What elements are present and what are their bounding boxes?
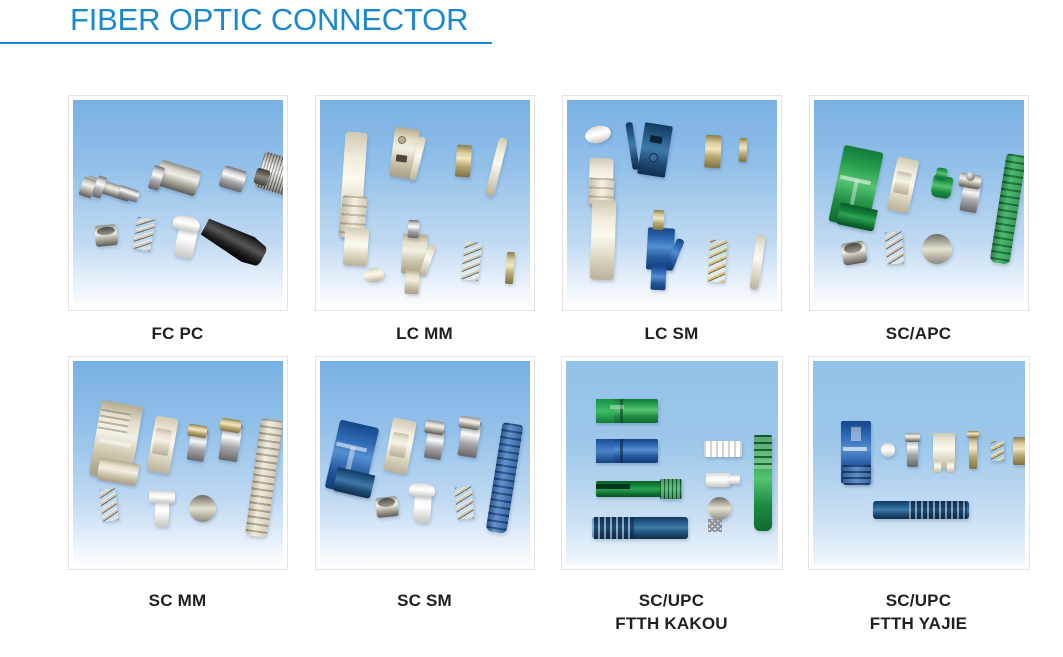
product-caption-fc-pc: FC PC [152, 323, 204, 346]
product-cell-sc-mm[interactable]: SC MM [60, 356, 295, 636]
product-cell-sc-upc-ftth-yajie[interactable]: SC/UPC FTTH YAJIE [801, 356, 1036, 636]
product-card-sc-upc-ftth-yajie[interactable] [808, 356, 1030, 570]
product-caption-sc-upc-ftth-kakou: SC/UPC FTTH KAKOU [615, 590, 727, 636]
product-caption-sc-apc: SC/APC [886, 323, 951, 346]
product-card-sc-sm[interactable] [315, 356, 535, 570]
page-header: FIBER OPTIC CONNECTOR [0, 0, 1063, 46]
product-grid: FC PC [0, 52, 1063, 636]
product-caption-lc-sm: LC SM [645, 323, 699, 346]
product-card-lc-sm[interactable] [562, 95, 782, 311]
product-cell-lc-sm[interactable]: LC SM [554, 95, 789, 346]
product-photo-lc-mm [320, 100, 530, 306]
product-photo-sc-mm [73, 361, 283, 565]
product-card-fc-pc[interactable] [68, 95, 288, 311]
product-caption-lc-mm: LC MM [396, 323, 453, 346]
product-cell-sc-sm[interactable]: SC SM [307, 356, 542, 636]
product-caption-sc-upc-ftth-yajie: SC/UPC FTTH YAJIE [870, 590, 967, 636]
product-card-sc-apc[interactable] [809, 95, 1029, 311]
page-title: FIBER OPTIC CONNECTOR [70, 2, 468, 38]
title-underline-rule [0, 42, 492, 44]
product-row-2: SC MM [0, 346, 1063, 636]
product-photo-lc-sm [567, 100, 777, 306]
product-photo-sc-apc [814, 100, 1024, 306]
product-cell-lc-mm[interactable]: LC MM [307, 95, 542, 346]
product-photo-sc-sm [320, 361, 530, 565]
product-card-sc-upc-ftth-kakou[interactable] [561, 356, 783, 570]
product-photo-sc-upc-ftth-kakou [566, 361, 778, 565]
product-cell-sc-upc-ftth-kakou[interactable]: SC/UPC FTTH KAKOU [554, 356, 789, 636]
product-caption-sc-sm: SC SM [397, 590, 452, 613]
product-cell-fc-pc[interactable]: FC PC [60, 95, 295, 346]
product-photo-fc-pc [73, 100, 283, 306]
product-row-1: FC PC [0, 52, 1063, 346]
product-card-sc-mm[interactable] [68, 356, 288, 570]
product-photo-sc-upc-ftth-yajie [813, 361, 1025, 565]
product-caption-sc-mm: SC MM [149, 590, 207, 613]
product-card-lc-mm[interactable] [315, 95, 535, 311]
product-cell-sc-apc[interactable]: SC/APC [801, 95, 1036, 346]
